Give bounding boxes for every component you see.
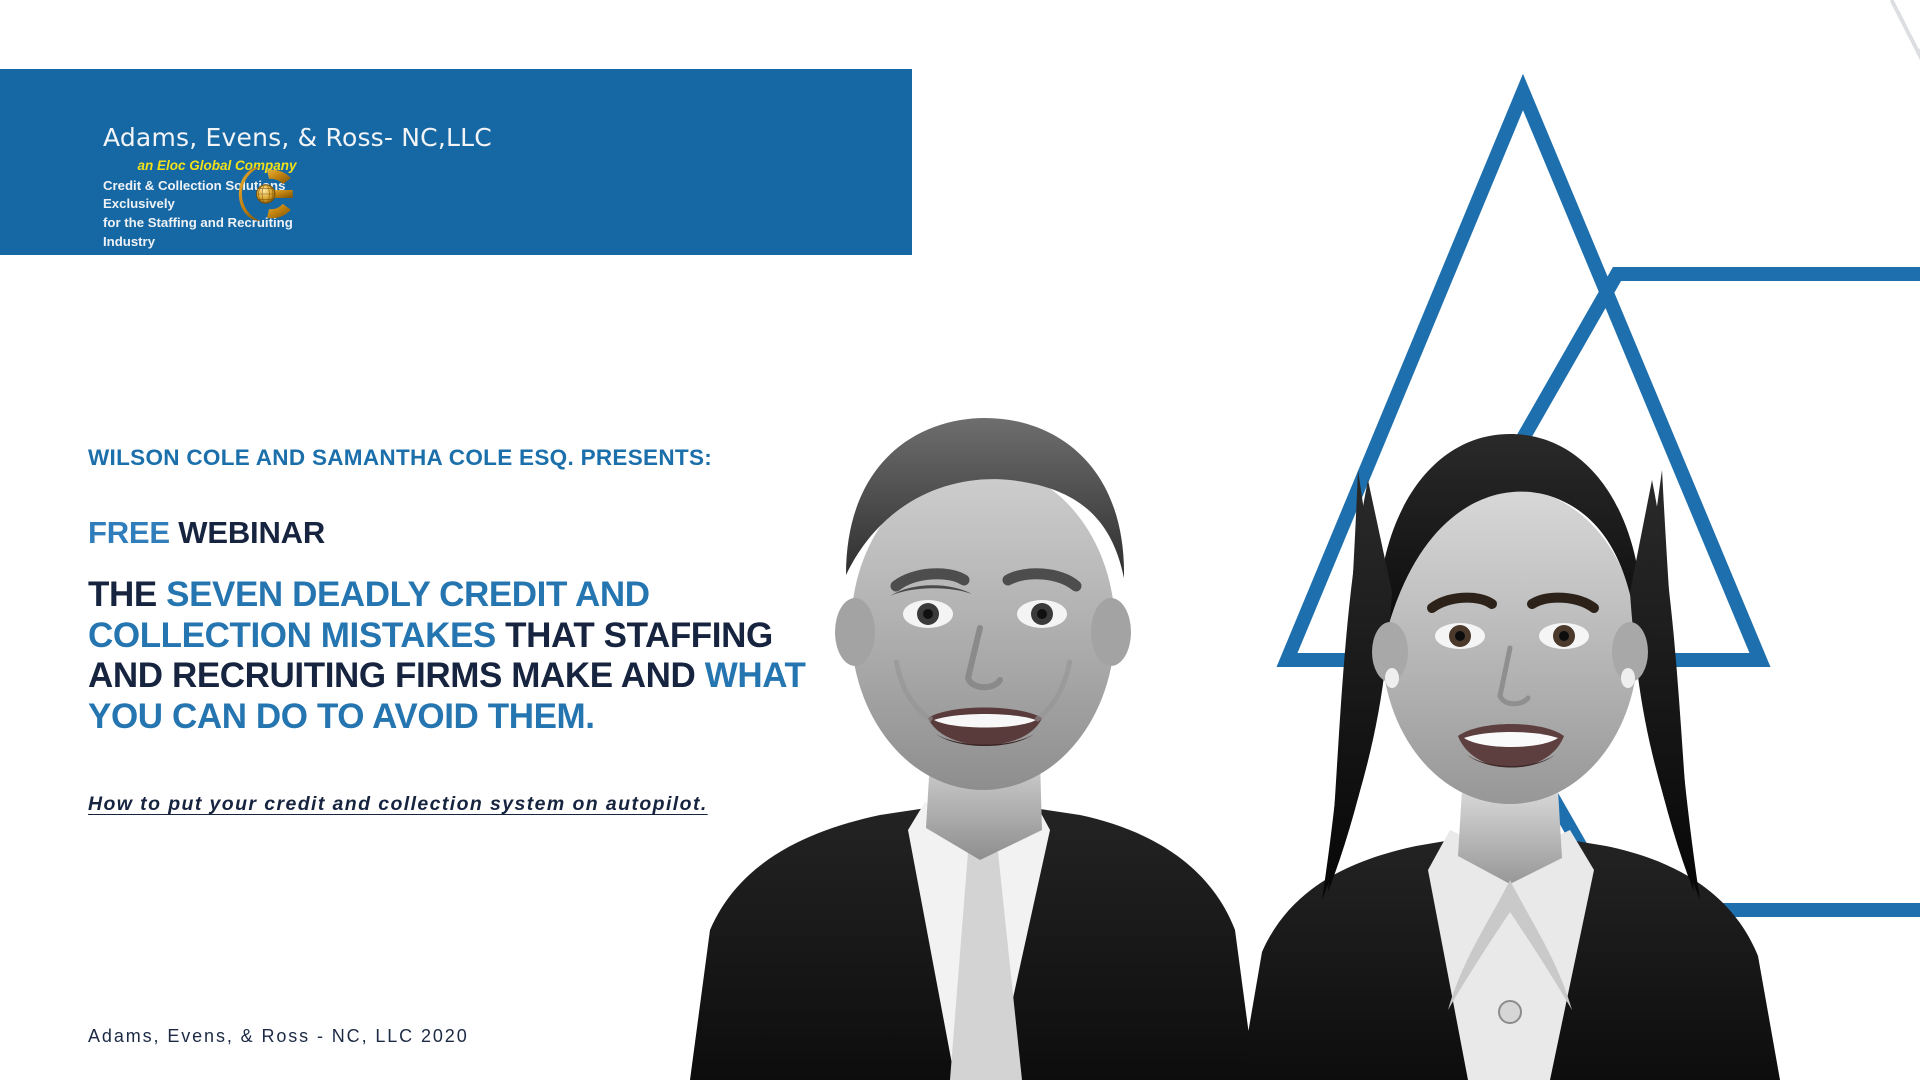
free-webinar-line: FREE WEBINAR — [88, 515, 325, 551]
webinar-title-slide: Adams, Evens, & Ross- NC,LLC an Eloc Glo… — [0, 0, 1920, 1080]
headline: THE SEVEN DEADLY CREDIT AND COLLECTION M… — [88, 575, 828, 737]
blue-outline-hexagon — [1435, 274, 1920, 910]
female-presenter — [1240, 434, 1780, 1080]
rotated-square-grid — [1890, 0, 1920, 937]
presenters-line: WILSON COLE AND SAMANTHA COLE ESQ. PRESE… — [88, 445, 712, 471]
subheadline: How to put your credit and collection sy… — [88, 793, 708, 816]
grid-decoration-container — [1030, 0, 1920, 1080]
male-presenter — [690, 418, 1255, 1080]
header-banner: Adams, Evens, & Ross- NC,LLC an Eloc Glo… — [0, 69, 912, 255]
webinar-word: WEBINAR — [170, 515, 325, 550]
blue-outline-triangle — [1287, 92, 1760, 660]
presenters-portrait-photo — [650, 360, 1920, 1080]
logo-company-name: Adams, Evens, & Ross- NC,LLC — [103, 124, 433, 152]
headline-part-1: THE — [88, 575, 166, 614]
eloc-global-globe-emblem — [238, 161, 304, 227]
footer-copyright: Adams, Evens, & Ross - NC, LLC 2020 — [88, 1026, 469, 1047]
free-word: FREE — [88, 515, 170, 550]
